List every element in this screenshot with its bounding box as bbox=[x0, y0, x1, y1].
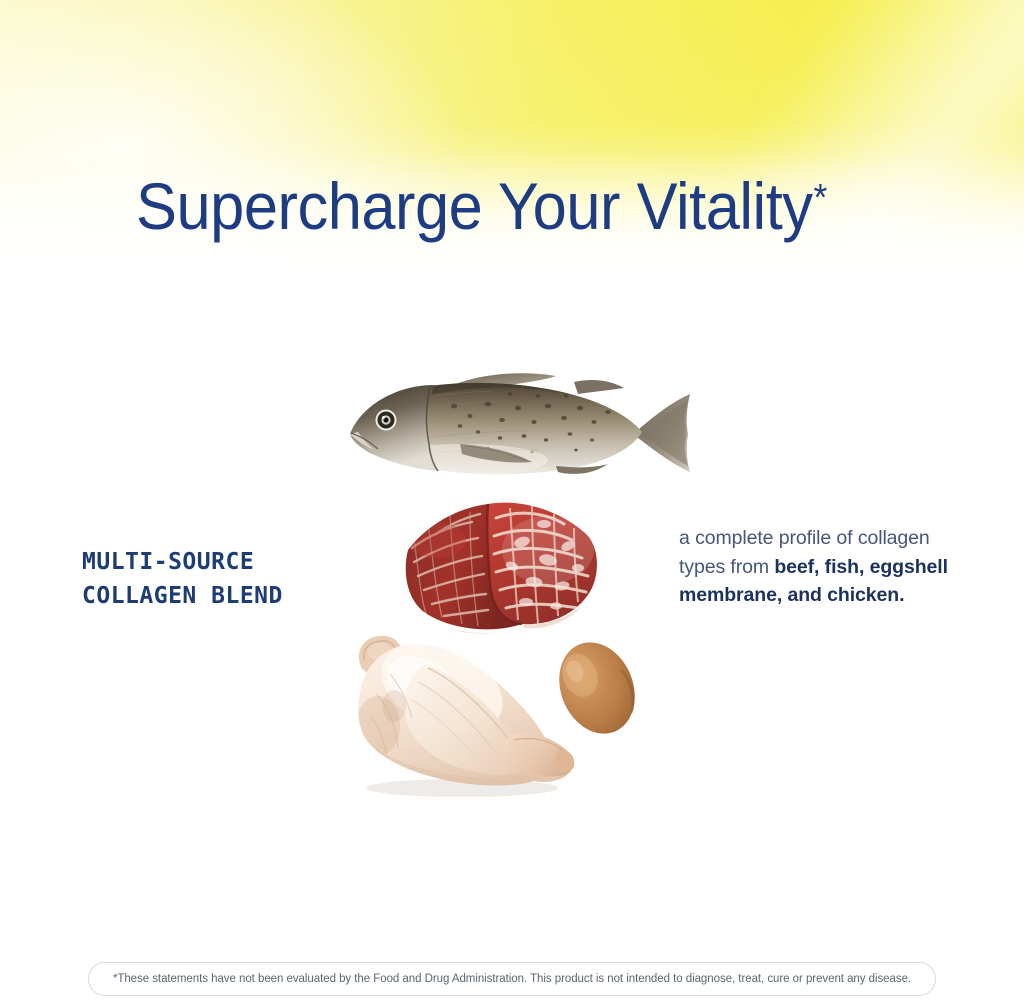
ingredient-collage bbox=[320, 352, 700, 802]
fish-image bbox=[342, 360, 696, 480]
disclaimer-pill: *These statements have not been evaluate… bbox=[88, 962, 936, 996]
banner-glow bbox=[0, 0, 460, 300]
product-feature-label: MULTI-SOURCE COLLAGEN BLEND bbox=[82, 545, 283, 613]
page-title-asterisk: * bbox=[813, 177, 826, 219]
page-title: Supercharge Your Vitality* bbox=[136, 168, 826, 244]
disclaimer-text: *These statements have not been evaluate… bbox=[113, 973, 911, 985]
product-feature-label-line2: COLLAGEN BLEND bbox=[82, 583, 283, 609]
page-title-text: Supercharge Your Vitality bbox=[136, 169, 813, 243]
promo-page: Supercharge Your Vitality* MULTI-SOURCE … bbox=[0, 0, 1024, 1000]
product-description: a complete profile of collagen types fro… bbox=[679, 524, 979, 610]
product-feature-label-line1: MULTI-SOURCE bbox=[82, 549, 254, 575]
egg-image bbox=[542, 636, 652, 740]
